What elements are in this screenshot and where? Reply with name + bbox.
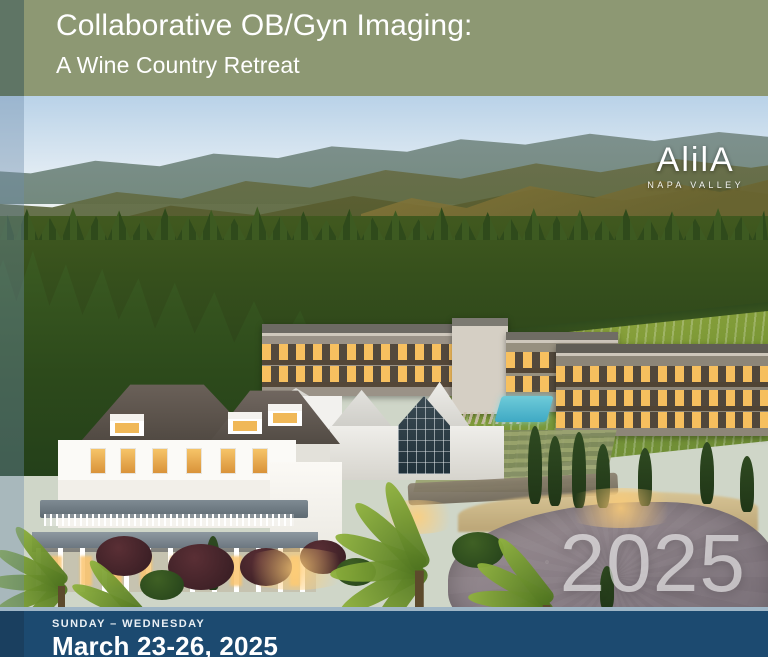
lodge-building-c	[556, 344, 768, 436]
lit-window	[186, 448, 202, 474]
page-title: Collaborative OB/Gyn Imaging: A Wine Cou…	[56, 8, 472, 82]
window-row	[262, 344, 462, 360]
title-line-secondary: A Wine Country Retreat	[56, 48, 472, 82]
swimming-pool	[494, 396, 553, 422]
window-row	[262, 366, 462, 382]
footer-band: SUNDAY – WEDNESDAY March 23-26, 2025	[0, 611, 768, 657]
hero-photograph: AlilA NAPA VALLEY 2025	[0, 96, 768, 611]
lodge-building-a	[262, 324, 462, 396]
event-poster: Collaborative OB/Gyn Imaging: A Wine Cou…	[0, 0, 768, 657]
footer-accent-strip	[0, 611, 24, 657]
left-accent-veil	[0, 96, 24, 611]
balcony-rail	[556, 406, 768, 411]
window-row	[556, 366, 768, 382]
dormer-window	[228, 412, 262, 434]
lit-window	[252, 448, 268, 474]
alila-location-label: NAPA VALLEY	[647, 180, 744, 190]
alila-wordmark: AlilA	[647, 142, 744, 178]
event-date: March 23-26, 2025	[52, 631, 278, 657]
title-line-primary: Collaborative OB/Gyn Imaging:	[56, 8, 472, 44]
dormer-window	[110, 414, 144, 436]
balcony-railing	[44, 514, 294, 526]
alila-logo: AlilA NAPA VALLEY	[647, 142, 744, 190]
header-accent-strip	[0, 0, 24, 96]
cypress-tree	[740, 456, 754, 512]
lit-window	[220, 448, 236, 474]
year-watermark: 2025	[560, 523, 746, 605]
cypress-tree	[548, 436, 562, 506]
lit-window	[90, 448, 106, 474]
balcony-rail	[556, 382, 768, 387]
lit-window	[120, 448, 136, 474]
cypress-tree	[700, 442, 714, 504]
lit-window	[152, 448, 168, 474]
balcony-rail	[262, 382, 462, 387]
green-shrub	[140, 570, 184, 600]
event-days-label: SUNDAY – WEDNESDAY	[52, 618, 205, 630]
cypress-tree	[528, 426, 542, 504]
window-row	[556, 412, 768, 428]
balcony-rail	[262, 360, 462, 365]
window-row	[556, 390, 768, 406]
dormer-window	[268, 404, 302, 426]
